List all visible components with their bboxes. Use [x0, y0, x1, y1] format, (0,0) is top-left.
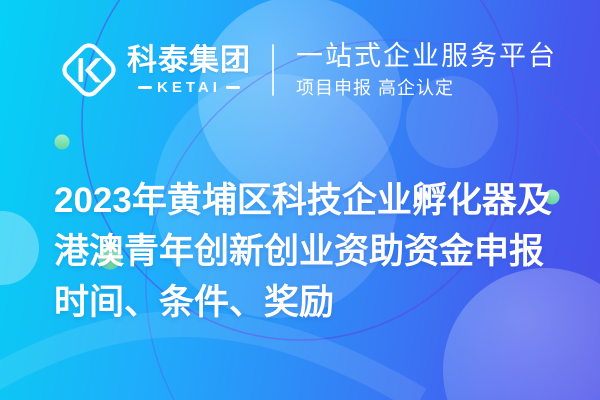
header-divider	[272, 44, 274, 96]
header-tagline: 一站式企业服务平台 项目申报 高企认定	[296, 39, 557, 101]
tagline-primary: 一站式企业服务平台	[296, 39, 557, 73]
left-edge-light-circle	[0, 211, 39, 285]
swoosh-arc-bottom-left	[0, 324, 420, 400]
wordmark-right-dash-icon	[226, 86, 240, 89]
brand-name-en-row: KETAI	[127, 80, 251, 95]
wordmark-left-dash-icon	[138, 86, 152, 89]
tagline-secondary: 项目申报 高企认定	[296, 75, 557, 101]
brand-name-en: KETAI	[157, 80, 221, 95]
ketai-diamond-kt-monogram-icon	[58, 39, 120, 101]
promo-banner: 科泰集团 KETAI 一站式企业服务平台 项目申报 高企认定 2023年黄埔区科…	[0, 0, 600, 400]
brand-name-cn: 科泰集团	[127, 45, 251, 77]
page-title: 2023年黄埔区科技企业孵化器及港澳青年创新创业资助资金申报时间、条件、奖励	[54, 175, 560, 328]
banner-header: 科泰集团 KETAI 一站式企业服务平台 项目申报 高企认定	[0, 0, 600, 140]
brand-logo-wordmark: 科泰集团 KETAI	[127, 45, 251, 95]
brand-logo[interactable]: 科泰集团 KETAI	[58, 39, 251, 101]
